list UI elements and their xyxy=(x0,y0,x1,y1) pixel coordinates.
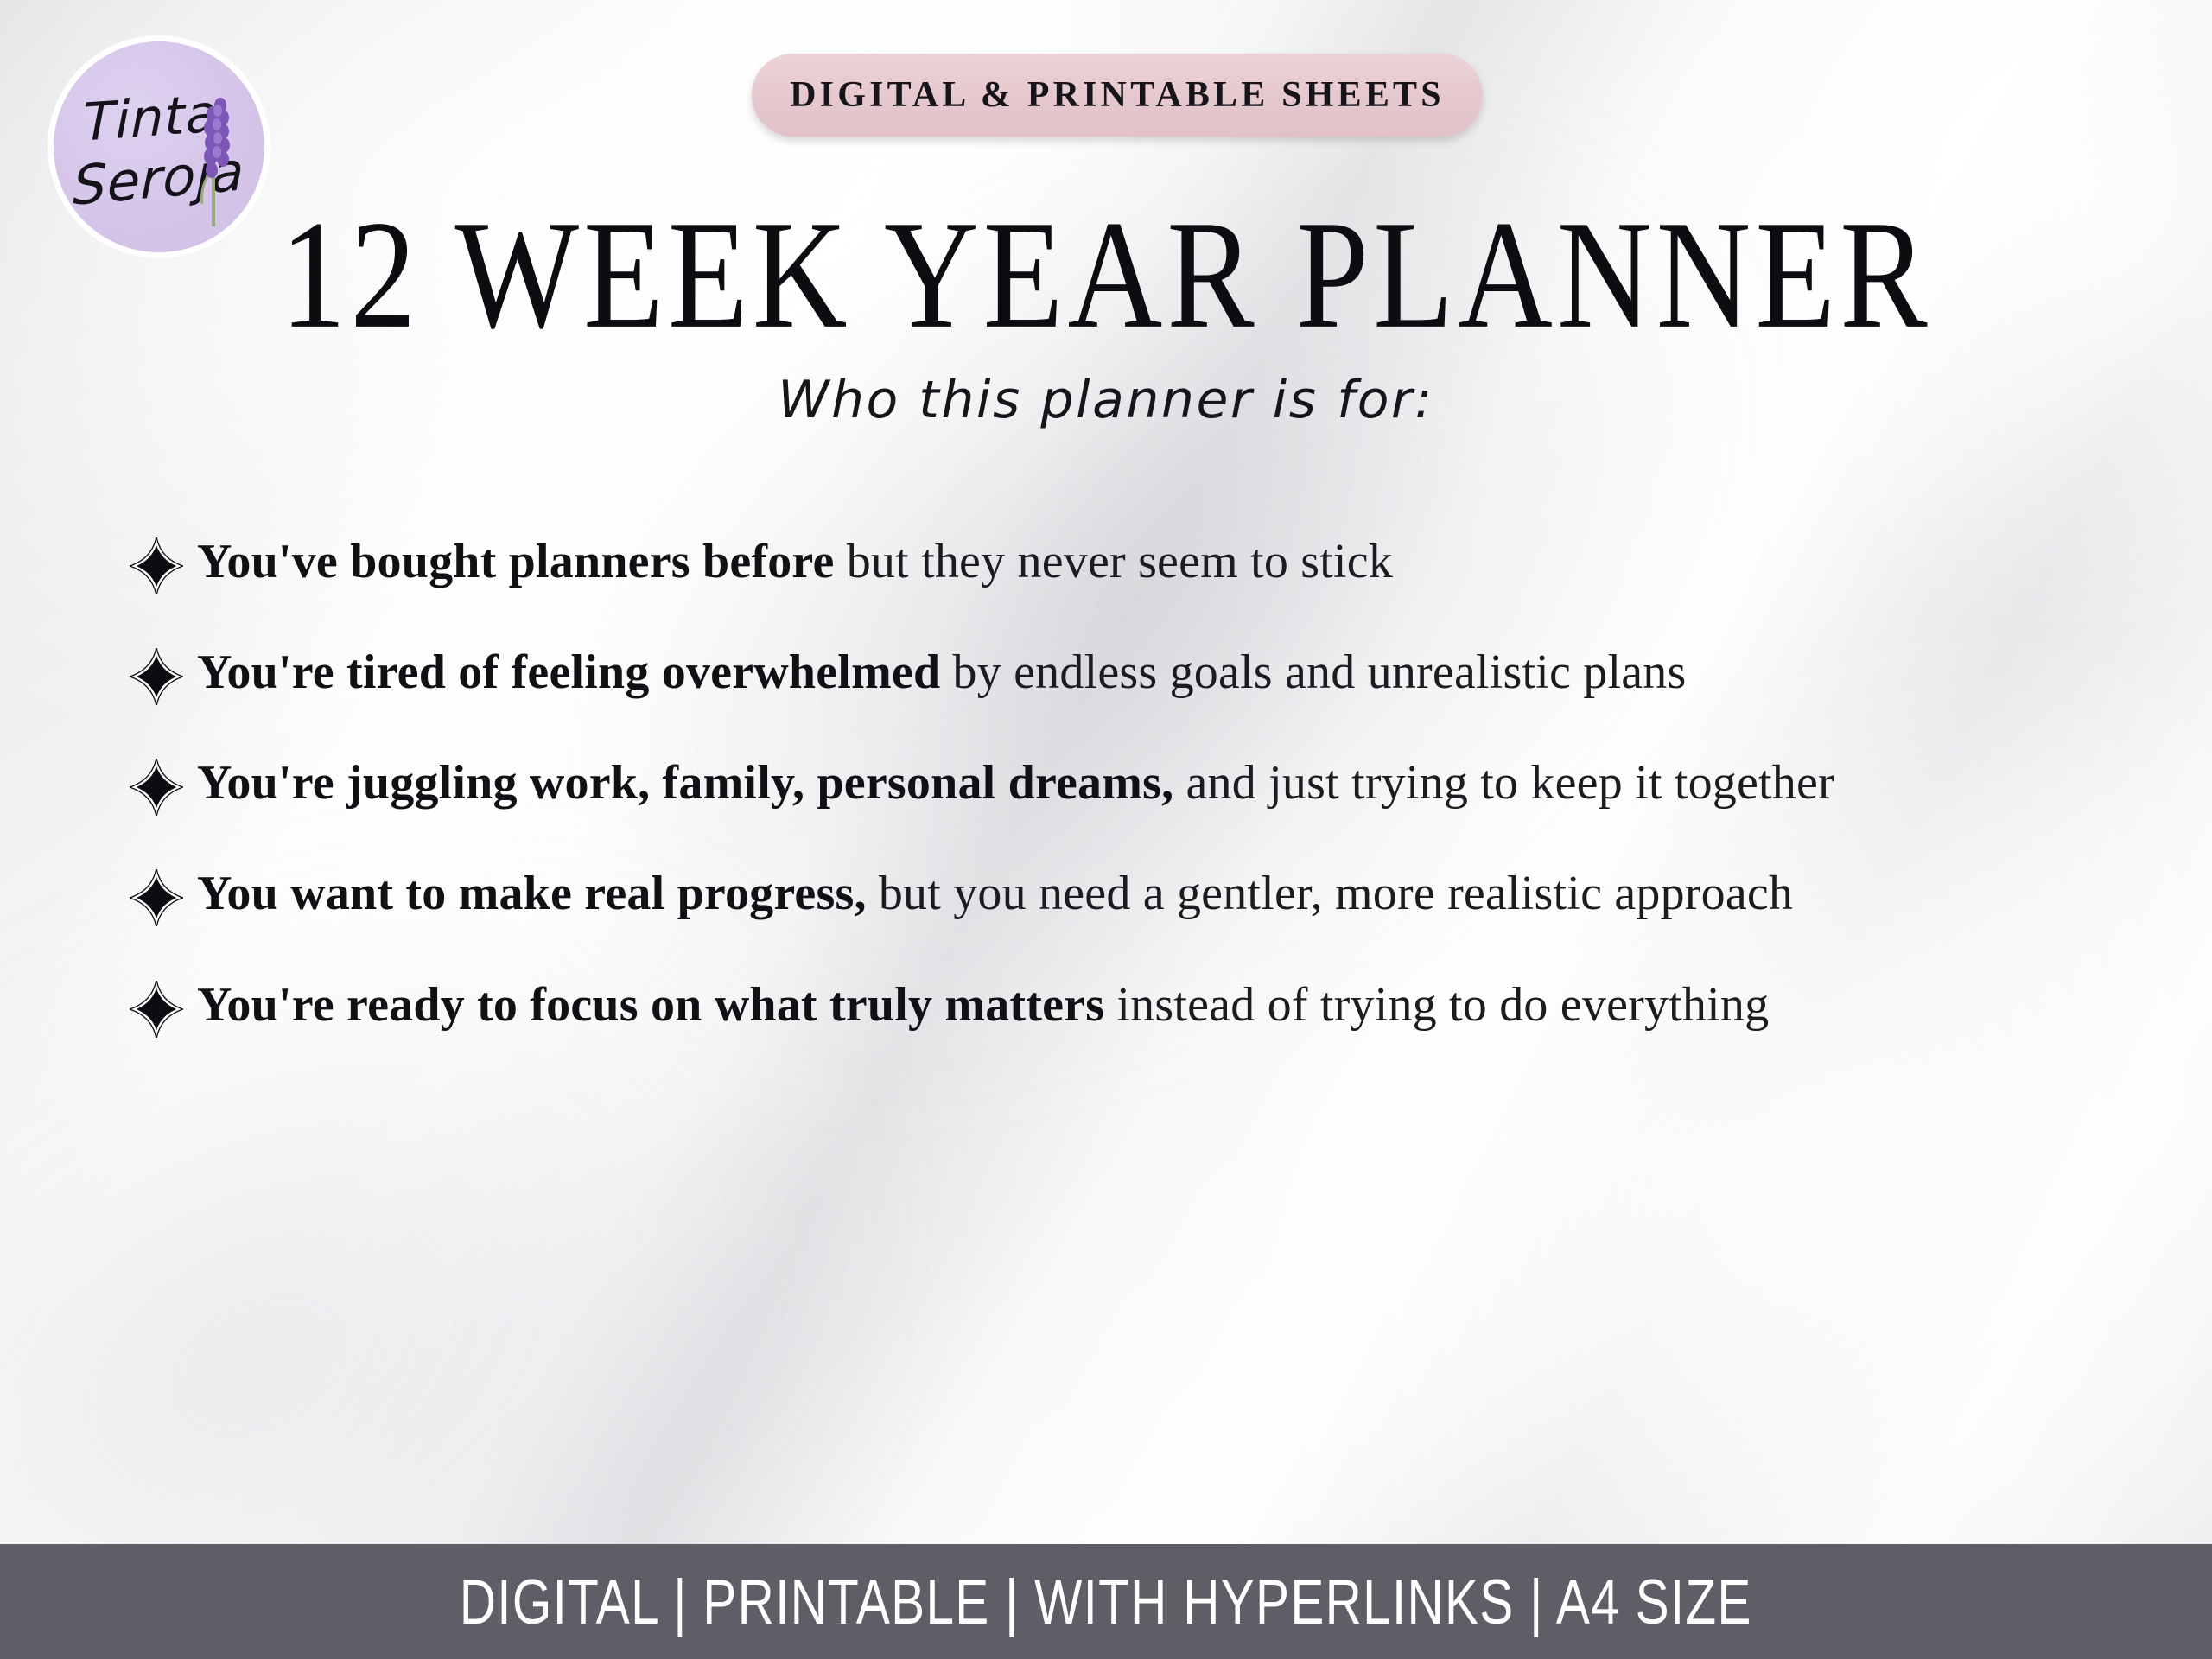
digital-printable-badge: DIGITAL & PRINTABLE SHEETS xyxy=(752,54,1483,137)
list-item-text: You're tired of feeling overwhelmed by e… xyxy=(197,639,1687,705)
four-point-star-icon xyxy=(130,648,183,705)
four-point-star-icon xyxy=(130,759,183,816)
digital-printable-badge-label: DIGITAL & PRINTABLE SHEETS xyxy=(790,74,1445,116)
list-item-text: You're ready to focus on what truly matt… xyxy=(197,972,1769,1038)
page-subtitle: Who this planner is for: xyxy=(0,370,2212,430)
list-item: You're juggling work, family, personal d… xyxy=(130,750,2108,816)
four-point-star-icon xyxy=(130,869,183,926)
list-item: You're tired of feeling overwhelmed by e… xyxy=(130,639,2108,705)
four-point-star-icon xyxy=(130,537,183,594)
footer-bar: DIGITAL | PRINTABLE | WITH HYPERLINKS | … xyxy=(0,1544,2212,1659)
list-item-regular: by endless goals and unrealistic plans xyxy=(940,645,1686,699)
list-item-regular: and just trying to keep it together xyxy=(1173,756,1834,810)
list-item-regular: instead of trying to do everything xyxy=(1104,978,1769,1032)
list-item-text: You want to make real progress, but you … xyxy=(197,861,1793,926)
list-item-regular: but you need a gentler, more realistic a… xyxy=(867,867,1793,920)
list-item: You're ready to focus on what truly matt… xyxy=(130,972,2108,1038)
audience-list: You've bought planners before but they n… xyxy=(130,529,2108,1083)
list-item-text: You're juggling work, family, personal d… xyxy=(197,750,1834,816)
list-item-bold: You're juggling work, family, personal d… xyxy=(197,756,1173,810)
list-item-bold: You're tired of feeling overwhelmed xyxy=(197,645,940,699)
list-item: You want to make real progress, but you … xyxy=(130,861,2108,926)
list-item-regular: but they never seem to stick xyxy=(835,535,1394,588)
page-title: 12 WEEK YEAR PLANNER xyxy=(0,197,2212,352)
list-item: You've bought planners before but they n… xyxy=(130,529,2108,594)
list-item-text: You've bought planners before but they n… xyxy=(197,529,1393,594)
footer-label: DIGITAL | PRINTABLE | WITH HYPERLINKS | … xyxy=(460,1565,1752,1637)
list-item-bold: You want to make real progress, xyxy=(197,867,867,920)
list-item-bold: You've bought planners before xyxy=(197,535,835,588)
four-point-star-icon xyxy=(130,981,183,1038)
poster-canvas: Tinta Seroja xyxy=(0,0,2212,1659)
list-item-bold: You're ready to focus on what truly matt… xyxy=(197,978,1104,1032)
